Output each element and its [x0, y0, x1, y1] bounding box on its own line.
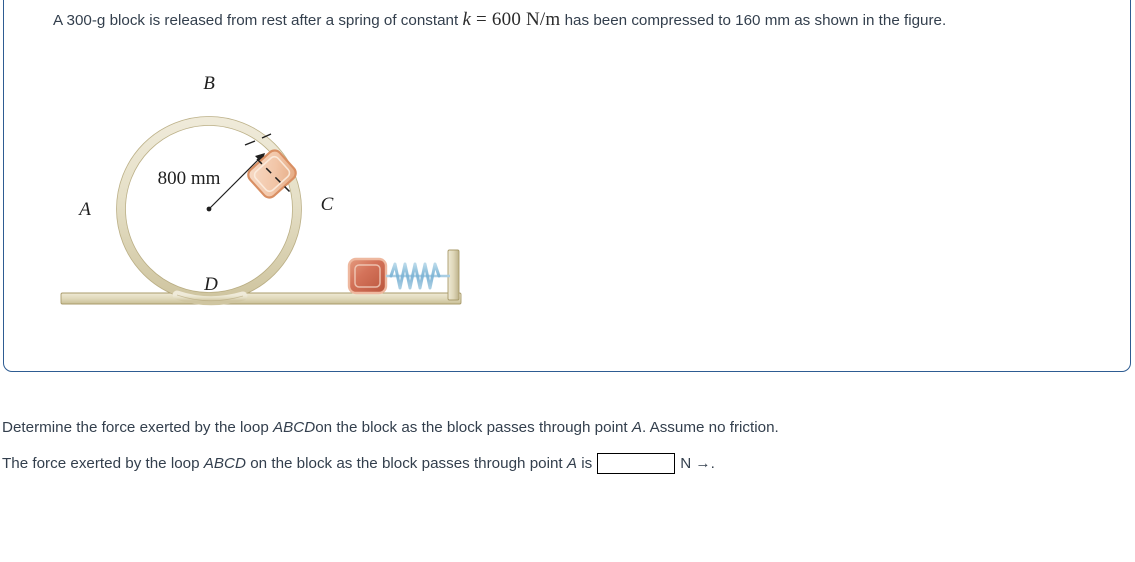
answer-loop-name-abcd: ABCD	[204, 454, 246, 474]
question-text-a: Determine the force exerted by the loop	[2, 419, 269, 436]
label-c: C	[321, 194, 334, 215]
spring	[386, 264, 450, 288]
statement-text-pre: A 300-g block is released from rest afte…	[53, 12, 458, 29]
label-d: D	[203, 274, 218, 295]
problem-panel: A 300-g block is released from rest afte…	[3, 0, 1131, 372]
label-a: A	[77, 199, 91, 220]
ground-rail	[61, 293, 461, 304]
answer-point-a-reference: A	[567, 454, 577, 474]
question-area: Determine the force exerted by the loop …	[0, 418, 1135, 474]
label-radius: 800 mm	[158, 168, 221, 189]
question-text-b: on the block as the block passes through…	[315, 419, 627, 436]
label-b: B	[203, 73, 215, 94]
question-text-c: . Assume no friction.	[642, 419, 779, 436]
spring-constant-equation: k = 600 N/m	[462, 9, 560, 30]
math-symbol-k: k	[462, 9, 471, 30]
question-prompt: Determine the force exerted by the loop …	[2, 418, 1135, 438]
math-equals: =	[476, 9, 487, 30]
answer-unit: N →.	[680, 454, 715, 474]
answer-text-c: is	[581, 454, 592, 474]
problem-statement: A 300-g block is released from rest afte…	[53, 9, 1073, 31]
answer-text-b: on the block as the block passes through…	[250, 454, 562, 474]
point-a-reference: A	[632, 419, 642, 436]
loop-name-abcd: ABCD	[273, 419, 315, 436]
answer-input[interactable]	[597, 453, 675, 474]
statement-text-post: has been compressed to 160 mm as shown i…	[565, 12, 947, 29]
math-unit-newton: N	[526, 9, 540, 30]
answer-text-a: The force exerted by the loop	[2, 454, 200, 474]
math-value-600: 600	[492, 9, 521, 30]
loop-spring-figure: B A C D 800 mm	[59, 67, 479, 317]
block-on-ground	[349, 259, 386, 293]
answer-row: The force exerted by the loop ABCD on th…	[2, 453, 1135, 474]
math-unit-meter: m	[545, 9, 560, 30]
